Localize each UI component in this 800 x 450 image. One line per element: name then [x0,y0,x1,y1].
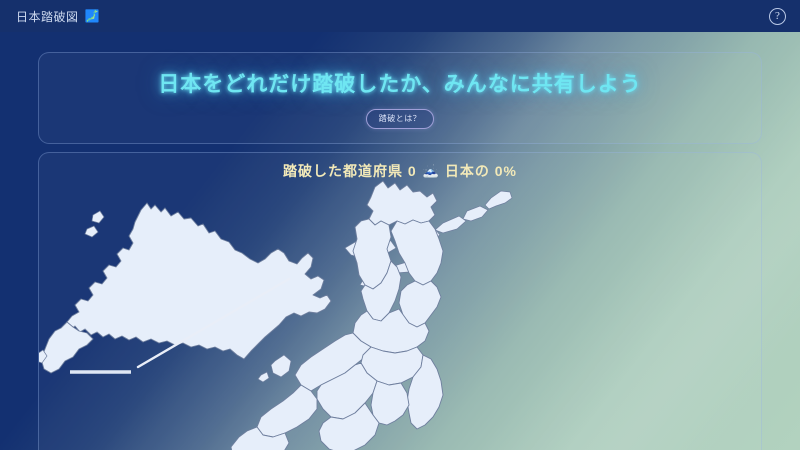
toyama-ishikawa-fukui-area[interactable] [257,385,317,437]
help-circle-icon[interactable]: ? [769,8,786,25]
rebun-island[interactable] [92,211,104,223]
mount-fuji-icon: 🗻 [423,163,439,179]
sado-island[interactable] [271,355,291,377]
hero-title: 日本をどれだけ踏破したか、みんなに共有しよう [158,68,642,98]
map-card: 踏破した都道府県 0 🗻 日本の 0% [38,152,762,450]
kuril-island-far[interactable] [485,191,512,209]
what-is-toha-button[interactable]: 踏破とは？ [366,109,435,129]
app-title: 日本踏破図 [16,8,79,25]
rishiri-island[interactable] [85,226,98,237]
kuril-island-3[interactable] [435,216,466,233]
top-header-bar: 日本踏破図 🗾 ? [0,0,800,32]
app-root: 日本踏破図 🗾 ? 日本をどれだけ踏破したか、みんなに共有しよう 踏破とは？ 踏… [0,0,800,450]
hokkaido-prefecture[interactable] [67,203,331,359]
kuril-island-4[interactable] [463,206,488,221]
awashima-islet[interactable] [258,372,269,382]
percent-of-japan-label: 日本の 0% [445,161,517,181]
kanto-chubu-region-group [231,333,443,450]
japan-map-canvas[interactable] [39,179,762,450]
japan-map-svg[interactable] [39,179,762,450]
map-stat-row: 踏破した都道府県 0 🗻 日本の 0% [39,153,761,189]
visited-prefectures-label: 踏破した都道府県 0 [283,161,417,181]
japan-map-emoji: 🗾 [85,10,100,22]
tokyo-kanagawa-area[interactable] [371,381,409,425]
hero-card: 日本をどれだけ踏破したか、みんなに共有しよう 踏破とは？ [38,52,762,144]
brand[interactable]: 日本踏破図 🗾 [16,8,99,25]
